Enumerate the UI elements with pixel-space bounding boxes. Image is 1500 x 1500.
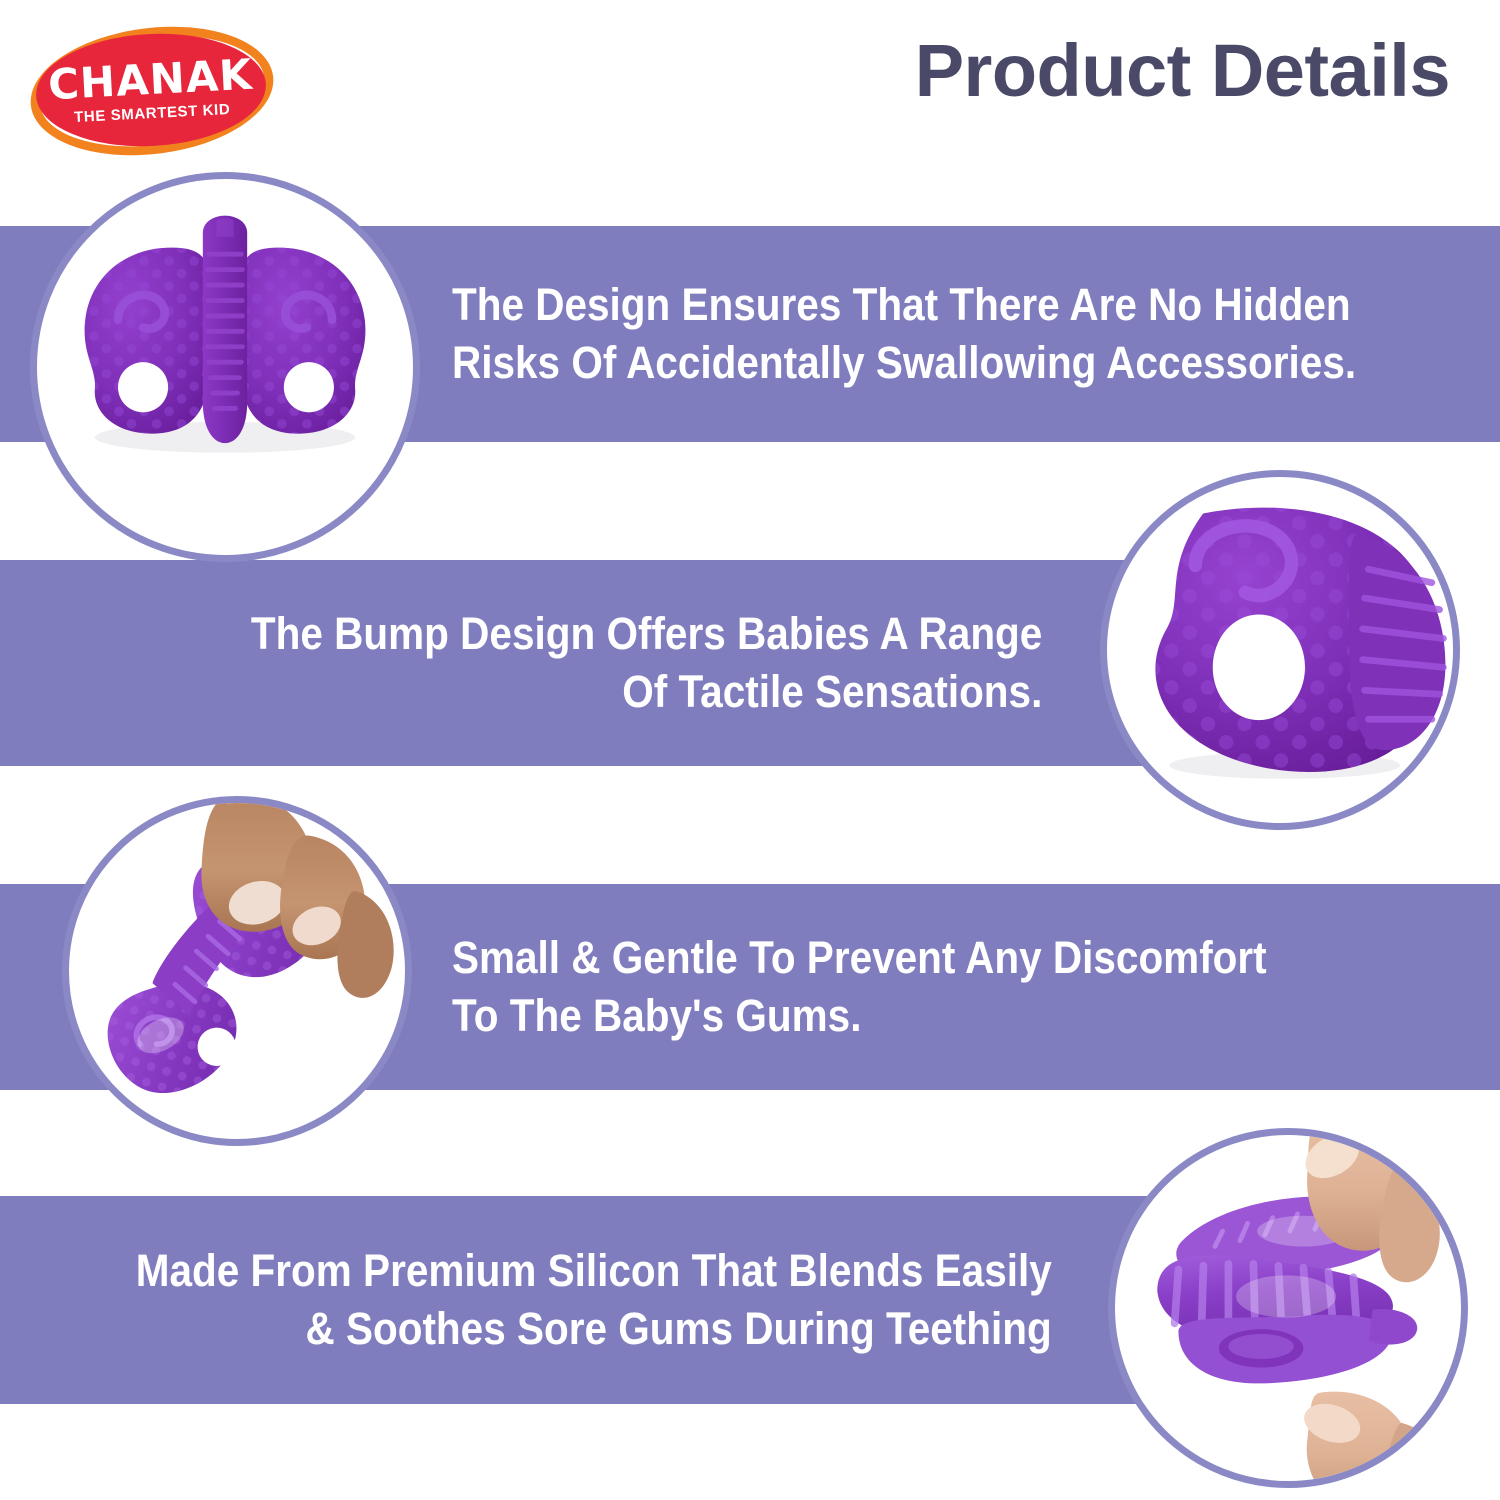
butterfly-teether-illustration [37, 179, 413, 555]
product-image-bump-texture-closeup [1100, 470, 1460, 830]
brand-logo: CHANAK THE SMARTEST KID [22, 22, 282, 162]
product-image-fingers-flexing-teether [1108, 1128, 1468, 1488]
product-image-hand-holding-teether [62, 796, 412, 1146]
teether-wing-closeup-illustration [1107, 477, 1453, 823]
logo-brand-name: CHANAK [47, 54, 254, 107]
feature-text-1: The Design Ensures That There Are No Hid… [452, 276, 1356, 393]
feature-text-3: Small & Gentle To Prevent Any Discomfort… [452, 929, 1267, 1046]
flexing-teether-illustration [1115, 1135, 1461, 1481]
feature-text-4: Made From Premium Silicon That Blends Ea… [136, 1242, 1052, 1359]
page-title: Product Details [915, 34, 1450, 108]
product-image-butterfly-teether-front [30, 172, 420, 562]
hand-holding-teether-illustration [69, 803, 405, 1139]
feature-text-2: The Bump Design Offers Babies A Range Of… [251, 605, 1042, 722]
